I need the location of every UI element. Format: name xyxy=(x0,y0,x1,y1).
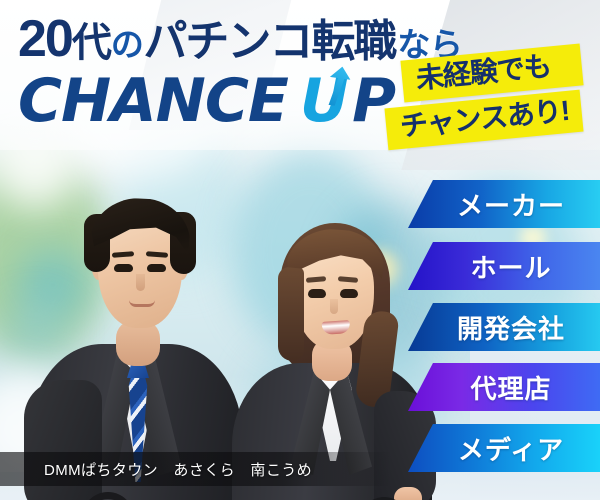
category-button-developer-label: 開発会社 xyxy=(443,309,565,346)
category-button-agency-label: 代理店 xyxy=(456,369,551,406)
category-button-hall-label: ホール xyxy=(456,248,551,285)
category-button-developer[interactable]: 開発会社 xyxy=(408,303,600,351)
category-button-media-label: メディア xyxy=(444,430,564,467)
category-button-maker-label: メーカー xyxy=(443,186,565,223)
advertisement-banner[interactable]: 20 代 の パチンコ 転職 なら CHANCE U P 未経験でも チャンスあ… xyxy=(0,0,600,500)
category-button-list: メーカー ホール 開発会社 代理店 メディア xyxy=(0,0,600,500)
category-button-maker[interactable]: メーカー xyxy=(408,180,600,228)
category-button-hall[interactable]: ホール xyxy=(408,242,600,290)
credit-band: DMMぱちタウン あさくら 南こうめ xyxy=(0,452,392,486)
credit-text: DMMぱちタウン あさくら 南こうめ xyxy=(0,459,312,480)
category-button-media[interactable]: メディア xyxy=(408,424,600,472)
category-button-agency[interactable]: 代理店 xyxy=(408,363,600,411)
